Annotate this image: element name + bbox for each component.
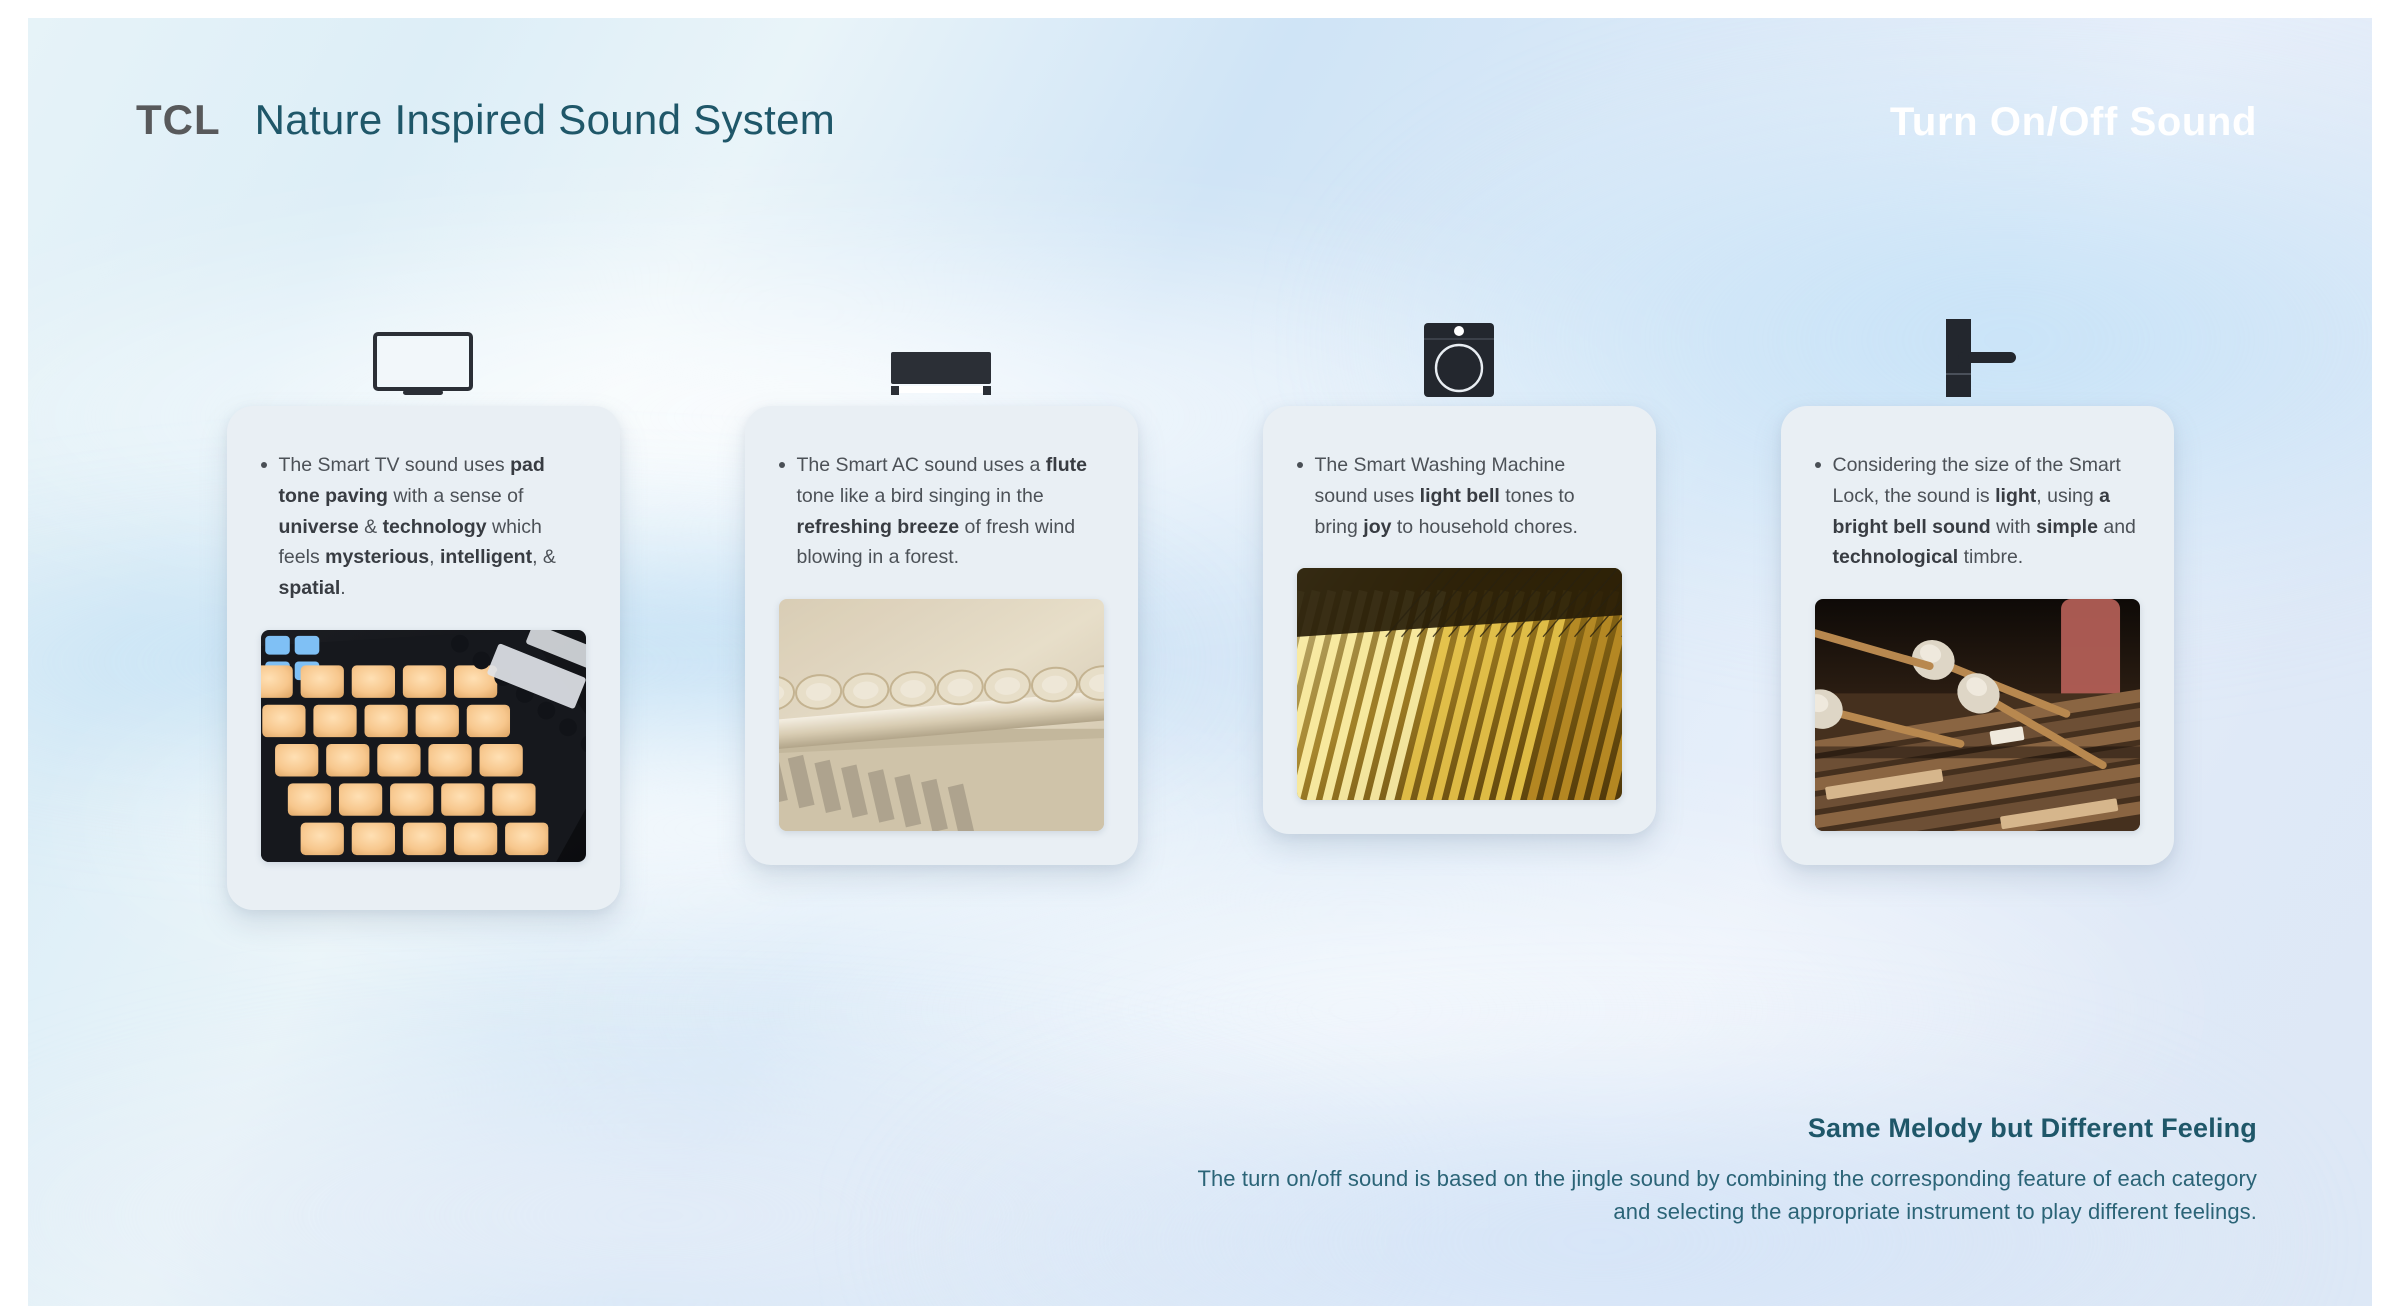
background-haze <box>28 1048 1388 1306</box>
footer-heading: Same Melody but Different Feeling <box>1197 1113 2257 1144</box>
info-card: The Smart AC sound uses a flute tone lik… <box>745 406 1138 865</box>
marimba-mallets-photo <box>1815 599 2140 831</box>
bullet-dot-icon <box>1815 462 1821 468</box>
info-card: The Smart TV sound uses pad tone paving … <box>227 406 620 910</box>
slide-footer: Same Melody but Different Feeling The tu… <box>1197 1113 2257 1228</box>
card-description: The Smart TV sound uses pad tone paving … <box>279 450 586 604</box>
washing-machine-icon <box>1423 326 1495 398</box>
section-title: Turn On/Off Sound <box>1890 100 2257 145</box>
air-conditioner-icon <box>889 326 993 398</box>
drum-pad-controller-photo <box>261 630 586 862</box>
bullet-row: The Smart TV sound uses pad tone paving … <box>261 450 586 604</box>
bullet-dot-icon <box>1297 462 1303 468</box>
card-description: The Smart AC sound uses a flute tone lik… <box>797 450 1104 573</box>
tv-icon <box>373 326 473 398</box>
card-description: The Smart Washing Machine sound uses lig… <box>1315 450 1622 542</box>
footer-line-2: and selecting the appropriate instrument… <box>1197 1195 2257 1228</box>
card-smart-ac: The Smart AC sound uses a flute tone lik… <box>745 406 1138 910</box>
info-card: Considering the size of the Smart Lock, … <box>1781 406 2174 865</box>
bullet-dot-icon <box>261 462 267 468</box>
footer-line-1: The turn on/off sound is based on the ji… <box>1197 1162 2257 1195</box>
card-smart-washing-machine: The Smart Washing Machine sound uses lig… <box>1263 406 1656 910</box>
bullet-dot-icon <box>779 462 785 468</box>
bullet-row: The Smart AC sound uses a flute tone lik… <box>779 450 1104 573</box>
bullet-row: Considering the size of the Smart Lock, … <box>1815 450 2140 573</box>
info-card: The Smart Washing Machine sound uses lig… <box>1263 406 1656 834</box>
golden-chimes-photo <box>1297 568 1622 800</box>
flute-on-piano-photo <box>779 599 1104 831</box>
card-smart-lock: Considering the size of the Smart Lock, … <box>1781 406 2174 910</box>
card-description: Considering the size of the Smart Lock, … <box>1833 450 2140 573</box>
door-lock-handle-icon <box>1932 326 2022 398</box>
slide-frame: TCL Nature Inspired Sound System Turn On… <box>0 0 2400 1314</box>
card-smart-tv: The Smart TV sound uses pad tone paving … <box>227 406 620 910</box>
slide-header: TCL Nature Inspired Sound System <box>136 96 835 144</box>
bullet-row: The Smart Washing Machine sound uses lig… <box>1297 450 1622 542</box>
cards-row: The Smart TV sound uses pad tone paving … <box>28 406 2372 910</box>
tcl-logo: TCL <box>136 96 221 144</box>
page-title: Nature Inspired Sound System <box>255 96 835 144</box>
slide-canvas: TCL Nature Inspired Sound System Turn On… <box>28 18 2372 1306</box>
